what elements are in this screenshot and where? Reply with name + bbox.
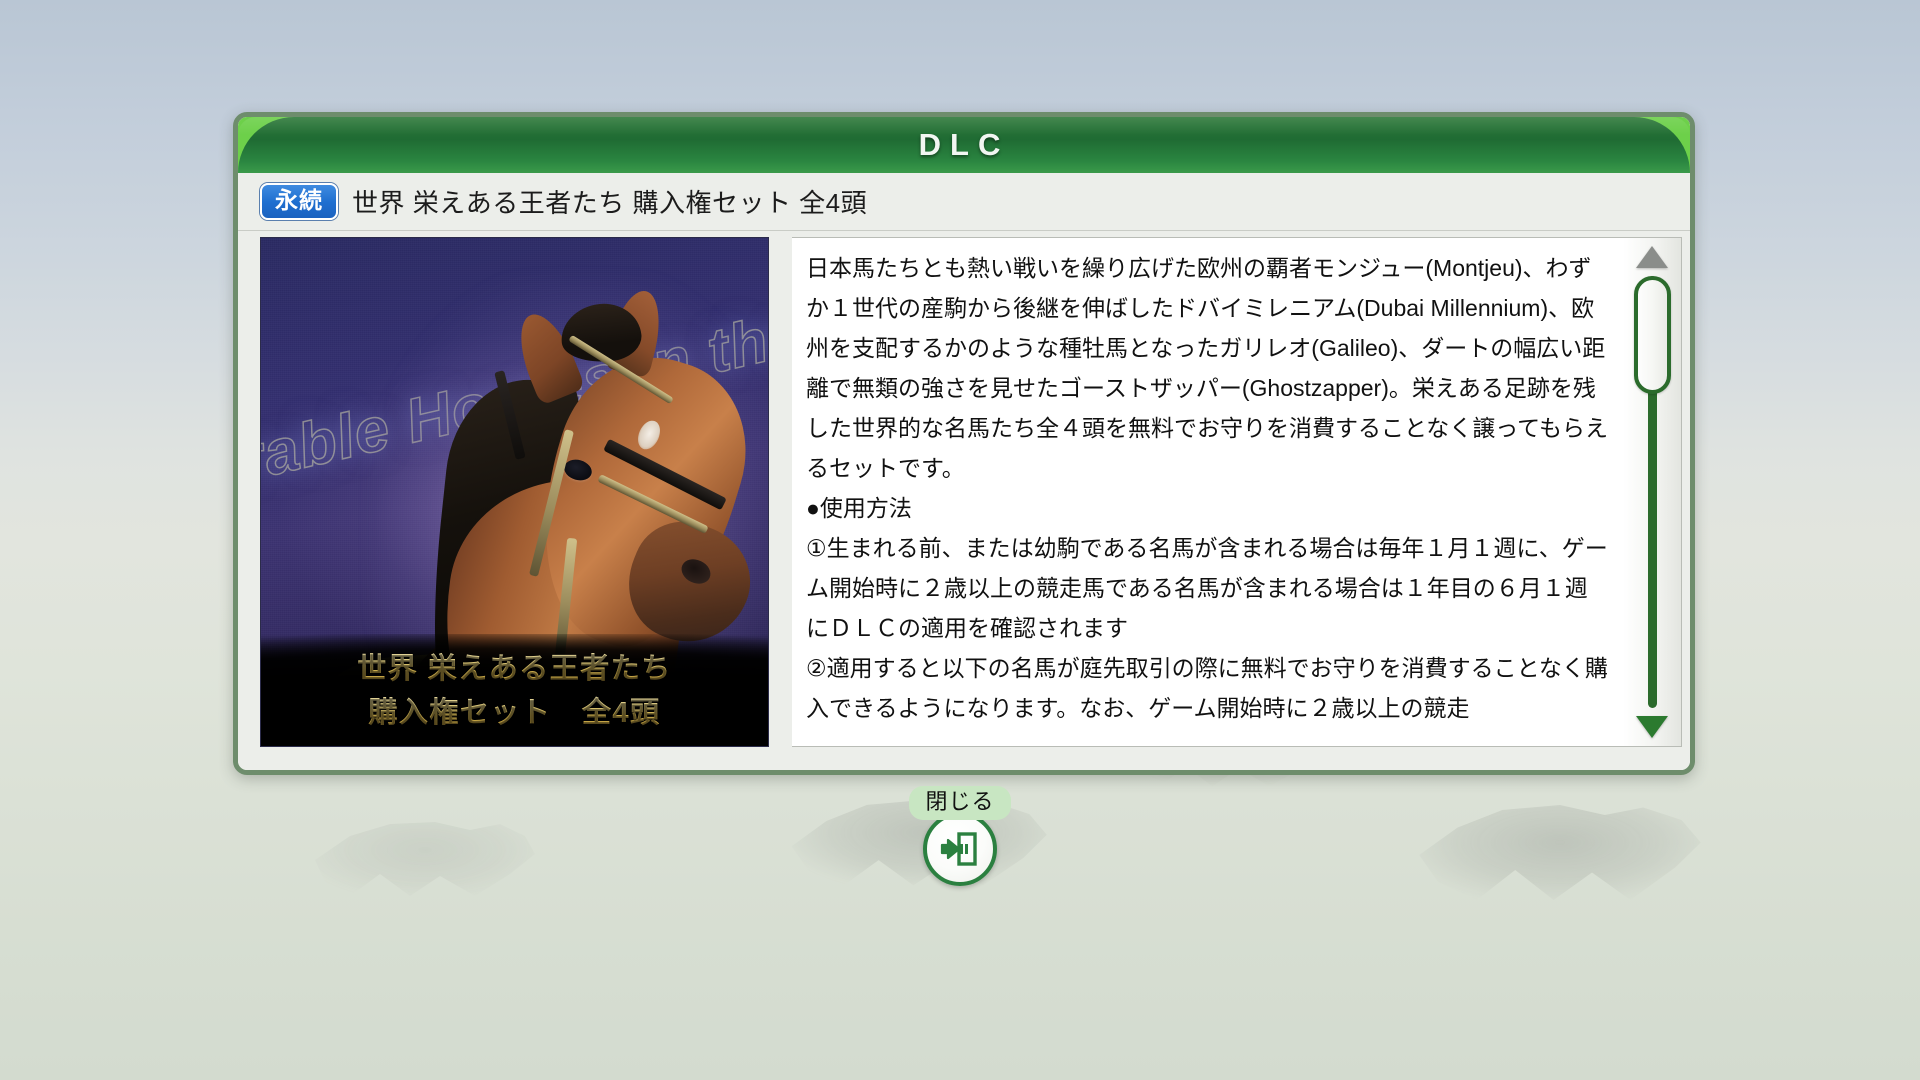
dialog-titlebar: DLC bbox=[238, 117, 1690, 173]
artwork-caption-line-1: 世界 栄えある王者たち bbox=[357, 645, 672, 687]
close-control[interactable]: 閉じる bbox=[905, 786, 1015, 886]
dlc-dialog: DLC 永続 世界 栄えある王者たち 購入権セット 全4頭 urable Hor… bbox=[233, 112, 1695, 775]
description-scroll-area[interactable]: 日本馬たちとも熱い戦いを繰り広げた欧州の覇者モンジュー(Montjeu)、わずか… bbox=[792, 238, 1623, 746]
dlc-artwork: urable Horses in the W bbox=[260, 237, 769, 747]
artwork-caption-line-2: 購入権セット 全4頭 bbox=[368, 689, 660, 731]
exit-left-arrow-icon bbox=[938, 827, 982, 871]
status-badge: 永続 bbox=[260, 183, 338, 220]
item-name: 世界 栄えある王者たち 購入権セット 全4頭 bbox=[352, 183, 867, 220]
description-scrollbar[interactable] bbox=[1623, 238, 1681, 746]
artwork-caption: 世界 栄えある王者たち 購入権セット 全4頭 bbox=[261, 634, 768, 746]
close-button[interactable] bbox=[923, 812, 997, 886]
description-panel: 日本馬たちとも熱い戦いを繰り広げた欧州の覇者モンジュー(Montjeu)、わずか… bbox=[792, 237, 1682, 747]
scroll-down-arrow-icon[interactable] bbox=[1636, 716, 1668, 738]
close-button-label: 閉じる bbox=[909, 786, 1010, 820]
background-horse-silhouette bbox=[1400, 780, 1720, 905]
scrollbar-thumb[interactable] bbox=[1634, 276, 1671, 394]
description-text: 日本馬たちとも熱い戦いを繰り広げた欧州の覇者モンジュー(Montjeu)、わずか… bbox=[806, 248, 1609, 728]
item-header-row: 永続 世界 栄えある王者たち 購入権セット 全4頭 bbox=[238, 173, 1690, 231]
page-title: DLC bbox=[238, 117, 1690, 173]
scroll-up-arrow-icon[interactable] bbox=[1636, 246, 1668, 268]
dialog-body: urable Horses in the W bbox=[238, 231, 1690, 770]
background-horse-silhouette bbox=[300, 800, 550, 900]
scrollbar-track[interactable] bbox=[1648, 276, 1657, 708]
